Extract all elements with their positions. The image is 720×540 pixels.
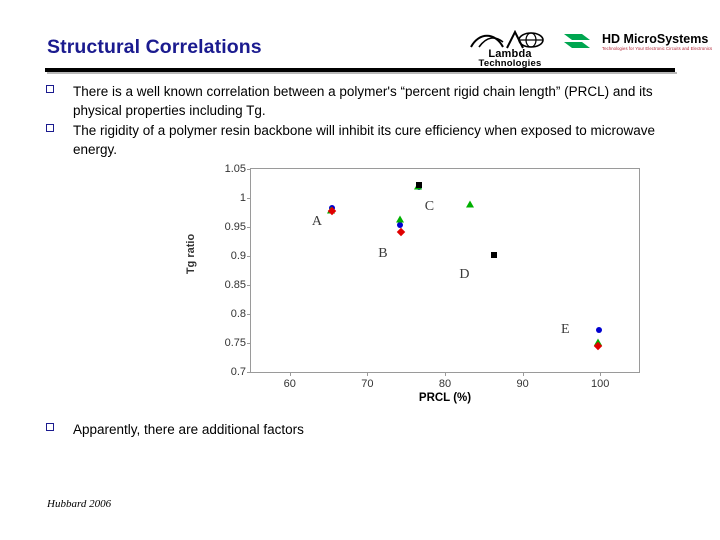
chart-y-tick-label: 0.85 — [225, 279, 246, 291]
bullet-text: Apparently, there are additional factors — [73, 422, 304, 437]
hd-logo-name: HD MicroSystems — [602, 32, 708, 46]
lambda-logo-line2: Technologies — [455, 58, 565, 69]
chart-y-tick-label: 0.95 — [225, 221, 246, 233]
chart-plot-area: 0.70.750.80.850.90.9511.0560708090100ABC… — [250, 168, 640, 373]
chart-y-tick-label: 0.8 — [231, 308, 246, 320]
bullet-text: There is a well known correlation betwee… — [73, 84, 653, 118]
chart-x-tick-label: 60 — [284, 378, 296, 390]
bullet-text: The rigidity of a polymer resin backbone… — [73, 123, 655, 157]
bullet-list-lower: Apparently, there are additional factors — [45, 420, 695, 440]
chart-y-tick-label: 0.7 — [231, 366, 246, 378]
chart-annotation-label: D — [459, 267, 469, 283]
chart-data-point — [491, 252, 497, 258]
chart-annotation-label: E — [561, 322, 570, 338]
chart-data-point — [416, 182, 422, 188]
chart-y-tick-mark — [247, 372, 251, 373]
chart-data-point — [466, 201, 474, 208]
chart-x-tick-mark — [290, 372, 291, 376]
chart-data-point — [596, 327, 602, 333]
list-item: Apparently, there are additional factors — [45, 420, 695, 439]
chart-x-tick-mark — [600, 372, 601, 376]
hd-chevron-mark — [560, 30, 600, 56]
chart-y-tick-mark — [247, 285, 251, 286]
scatter-chart: Tg ratio PRCL (%) 0.70.750.80.850.90.951… — [195, 160, 665, 420]
chart-y-tick-label: 1 — [240, 192, 246, 204]
chart-x-axis-label: PRCL (%) — [250, 392, 640, 404]
bullet-marker-icon — [46, 124, 54, 132]
lambda-technologies-logo: Lambda Technologies — [455, 30, 565, 68]
page-title: Structural Correlations — [47, 36, 262, 59]
chart-data-point — [397, 228, 405, 236]
chart-x-tick-label: 90 — [516, 378, 528, 390]
chart-y-tick-mark — [247, 314, 251, 315]
list-item: The rigidity of a polymer resin backbone… — [45, 121, 695, 159]
bullet-marker-icon — [46, 423, 54, 431]
slide-canvas: Structural Correlations Lambda Technolog… — [0, 0, 720, 540]
list-item: There is a well known correlation betwee… — [45, 82, 695, 120]
hd-logo-tagline: Technologies for Your Electronic Circuit… — [602, 46, 712, 51]
chart-y-tick-mark — [247, 227, 251, 228]
chart-y-tick-label: 0.75 — [225, 337, 246, 349]
chart-y-tick-label: 1.05 — [225, 163, 246, 175]
chart-data-point — [396, 216, 404, 223]
chart-annotation-label: C — [425, 199, 434, 215]
bullet-marker-icon — [46, 85, 54, 93]
chart-annotation-label: A — [312, 214, 322, 230]
chart-x-tick-mark — [445, 372, 446, 376]
chart-x-tick-mark — [523, 372, 524, 376]
lambda-swirl-mark — [469, 30, 553, 50]
slide-footer: Hubbard 2006 — [47, 498, 111, 510]
chart-y-tick-mark — [247, 198, 251, 199]
chart-y-tick-label: 0.9 — [231, 250, 246, 262]
bullet-list: There is a well known correlation betwee… — [45, 82, 695, 160]
hd-microsystems-logo: HD MicroSystems Technologies for Your El… — [560, 32, 690, 66]
chart-x-tick-label: 70 — [361, 378, 373, 390]
chart-x-tick-mark — [367, 372, 368, 376]
chart-x-tick-label: 80 — [439, 378, 451, 390]
chart-y-axis-label: Tg ratio — [185, 234, 197, 274]
chart-annotation-label: B — [378, 246, 387, 262]
chart-y-tick-mark — [247, 343, 251, 344]
title-divider-shadow — [47, 72, 677, 74]
chart-y-tick-mark — [247, 169, 251, 170]
chart-x-tick-label: 100 — [591, 378, 609, 390]
chart-y-tick-mark — [247, 256, 251, 257]
